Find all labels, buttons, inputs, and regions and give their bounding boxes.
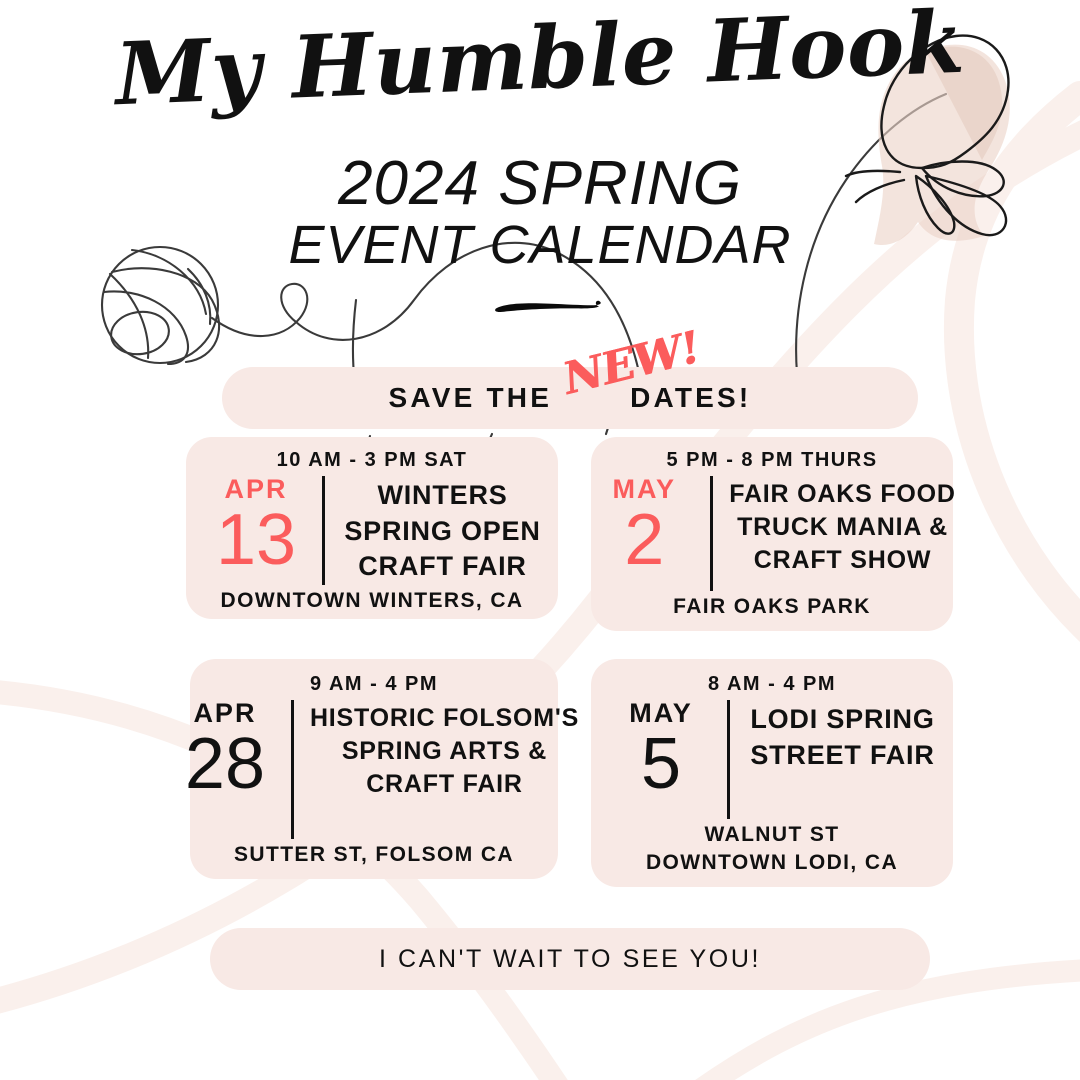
event-title-line: FAIR OAKS FOOD [729, 478, 955, 511]
event-body: MAY 5 LODI SPRING STREET FAIR [605, 698, 939, 819]
event-venue: WALNUT ST DOWNTOWN LODI, CA [646, 821, 898, 877]
event-body: MAY 2 FAIR OAKS FOOD TRUCK MANIA & CRAFT… [605, 474, 939, 591]
card-divider [291, 700, 294, 839]
event-title-line: CRAFT FAIR [341, 549, 544, 585]
event-title: LODI SPRING STREET FAIR [746, 698, 939, 773]
event-body: APR 13 WINTERS SPRING OPEN CRAFT FAIR [200, 474, 544, 585]
event-month: MAY [588, 476, 700, 503]
event-title-line: CRAFT FAIR [310, 768, 579, 801]
save-the-dates-suffix: DATES! [630, 382, 751, 414]
event-date: APR 28 [169, 698, 281, 800]
event-card[interactable]: 8 AM - 4 PM MAY 5 LODI SPRING STREET FAI… [591, 659, 953, 887]
card-divider [322, 476, 325, 585]
event-month: APR [200, 476, 312, 503]
poster-subtitle: 2024 SPRING EVENT CALENDAR [0, 152, 1080, 276]
event-title-line: WINTERS [341, 478, 544, 514]
event-venue: DOWNTOWN WINTERS, CA [221, 587, 524, 615]
event-day: 2 [588, 505, 700, 576]
event-card[interactable]: 10 AM - 3 PM SAT APR 13 WINTERS SPRING O… [186, 437, 558, 619]
event-month: MAY [605, 700, 717, 727]
event-calendar-poster: My Humble Hook 2024 SPRING EVENT CALENDA… [0, 0, 1080, 1080]
save-the-dates-prefix: SAVE THE [389, 382, 553, 414]
event-title-line: CRAFT SHOW [729, 544, 955, 577]
subtitle-year-season: 2024 SPRING [0, 152, 1080, 215]
event-day: 13 [200, 505, 312, 576]
event-title: FAIR OAKS FOOD TRUCK MANIA & CRAFT SHOW [729, 474, 955, 577]
card-divider [727, 700, 730, 819]
event-title-line: TRUCK MANIA & [729, 511, 955, 544]
event-venue-line: DOWNTOWN WINTERS, CA [221, 589, 524, 612]
event-title: WINTERS SPRING OPEN CRAFT FAIR [341, 474, 544, 585]
event-card[interactable]: 5 PM - 8 PM THURS MAY 2 FAIR OAKS FOOD T… [591, 437, 953, 631]
event-time: 8 AM - 4 PM [708, 673, 836, 696]
event-card[interactable]: 9 AM - 4 PM APR 28 HISTORIC FOLSOM'S SPR… [190, 659, 558, 879]
event-title-line: SPRING ARTS & [310, 735, 579, 768]
event-venue-line: DOWNTOWN LODI, CA [646, 851, 898, 874]
event-title-line: LODI SPRING [746, 702, 939, 738]
event-day: 5 [605, 729, 717, 800]
closing-message: I CAN'T WAIT TO SEE YOU! [379, 945, 761, 974]
event-venue: FAIR OAKS PARK [673, 593, 871, 621]
card-divider [710, 476, 713, 591]
event-day: 28 [169, 729, 281, 800]
closing-banner: I CAN'T WAIT TO SEE YOU! [210, 928, 930, 990]
brand-title: My Humble Hook [0, 0, 1080, 123]
event-venue: SUTTER ST, FOLSOM CA [234, 841, 514, 869]
event-time: 9 AM - 4 PM [310, 673, 438, 696]
event-date: MAY 5 [605, 698, 717, 800]
event-time: 10 AM - 3 PM SAT [277, 449, 468, 472]
event-month: APR [169, 700, 281, 727]
event-time: 5 PM - 8 PM THURS [666, 449, 877, 472]
event-venue-line: SUTTER ST, FOLSOM CA [234, 843, 514, 866]
event-date: MAY 2 [588, 474, 700, 576]
event-date: APR 13 [200, 474, 312, 576]
event-body: APR 28 HISTORIC FOLSOM'S SPRING ARTS & C… [204, 698, 544, 839]
event-title-line: SPRING OPEN [341, 514, 544, 550]
event-title: HISTORIC FOLSOM'S SPRING ARTS & CRAFT FA… [310, 698, 579, 801]
subtitle-event-calendar: EVENT CALENDAR [0, 215, 1080, 275]
event-venue-line: FAIR OAKS PARK [673, 595, 871, 618]
event-title-line: STREET FAIR [746, 738, 939, 774]
event-title-line: HISTORIC FOLSOM'S [310, 702, 579, 735]
event-venue-line: WALNUT ST [704, 823, 839, 846]
